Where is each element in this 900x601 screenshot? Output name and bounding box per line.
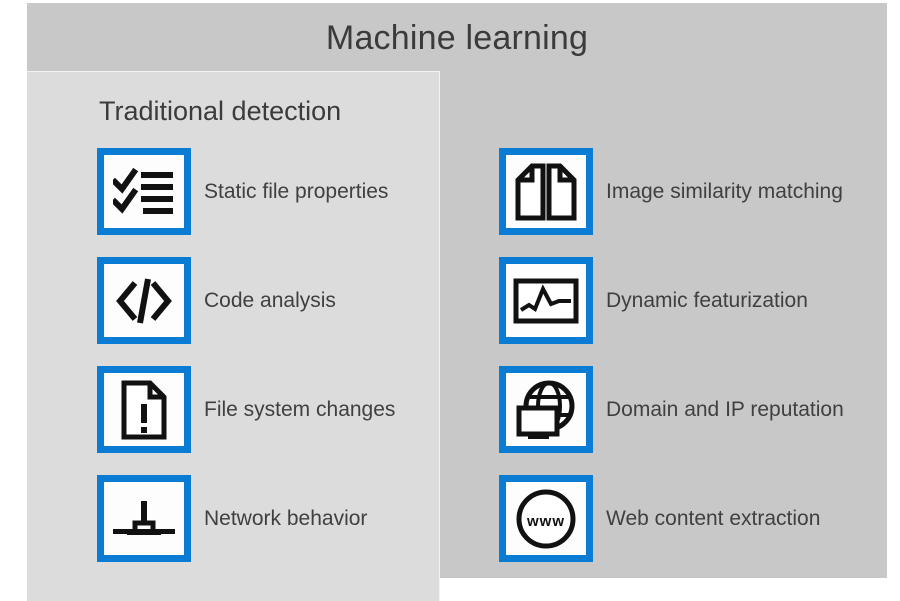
machine-learning-item-list: Image similarity matching Dynamic featur… (499, 148, 844, 584)
two-documents-icon (499, 148, 593, 235)
list-item-code-analysis[interactable]: Code analysis (97, 257, 395, 344)
machine-learning-panel: Machine learning Traditional detection S… (27, 3, 887, 578)
list-item-label: Image similarity matching (606, 180, 843, 204)
list-item-web-content-extraction[interactable]: www Web content extraction (499, 475, 844, 562)
list-item-label: Network behavior (204, 507, 367, 531)
list-item-label: File system changes (204, 398, 395, 422)
list-item-dynamic-featurization[interactable]: Dynamic featurization (499, 257, 844, 344)
document-alert-icon (97, 366, 191, 453)
list-item-network-behavior[interactable]: Network behavior (97, 475, 395, 562)
list-item-static-file-properties[interactable]: Static file properties (97, 148, 395, 235)
list-item-file-system-changes[interactable]: File system changes (97, 366, 395, 453)
list-item-image-similarity-matching[interactable]: Image similarity matching (499, 148, 844, 235)
www-circle-icon: www (499, 475, 593, 562)
code-brackets-icon (97, 257, 191, 344)
list-item-domain-and-ip-reputation[interactable]: Domain and IP reputation (499, 366, 844, 453)
list-item-label: Static file properties (204, 180, 388, 204)
globe-monitor-icon (499, 366, 593, 453)
list-item-label: Code analysis (204, 289, 336, 313)
traditional-detection-title: Traditional detection (99, 96, 341, 127)
diagram-title: Machine learning (27, 19, 887, 58)
svg-text:www: www (526, 513, 565, 530)
list-item-label: Dynamic featurization (606, 289, 808, 313)
network-hub-icon (97, 475, 191, 562)
list-item-label: Domain and IP reputation (606, 398, 844, 422)
list-item-label: Web content extraction (606, 507, 820, 531)
traditional-detection-item-list: Static file properties Code analysis (97, 148, 395, 584)
line-chart-icon (499, 257, 593, 344)
checklist-icon (97, 148, 191, 235)
